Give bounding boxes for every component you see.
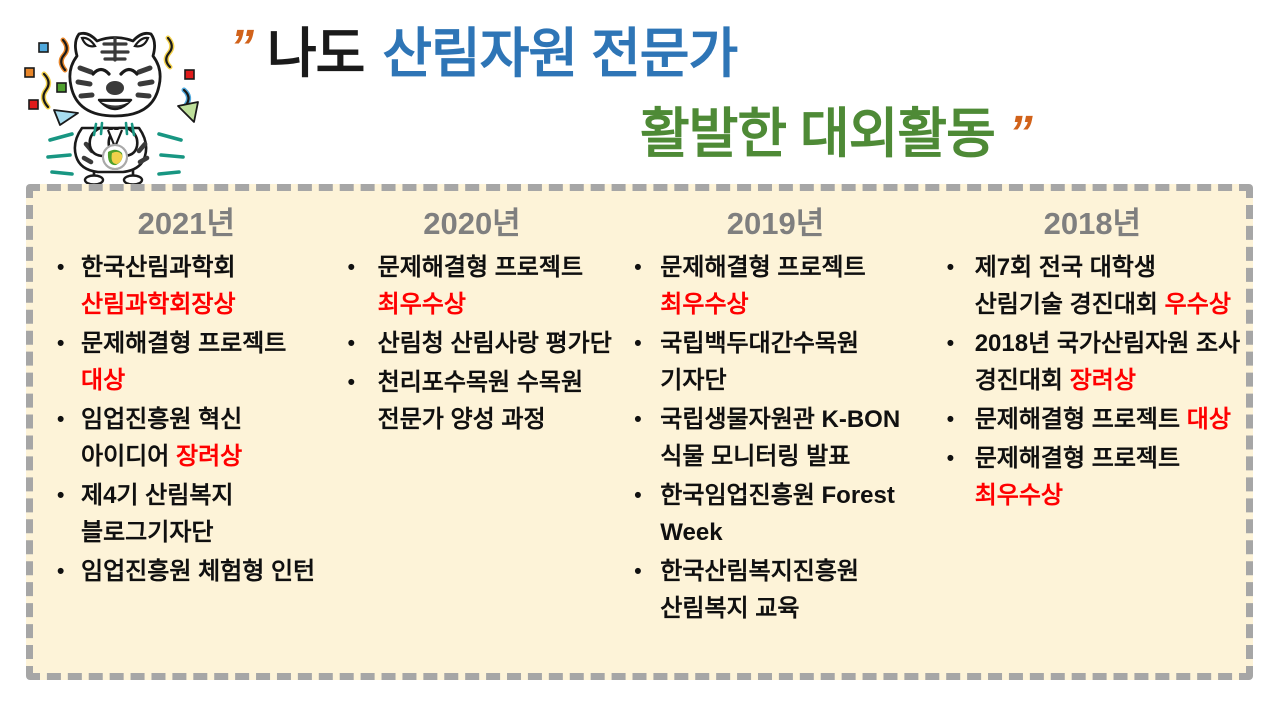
title-line1-black-text: 나도 [267, 24, 364, 84]
list-item: 천리포수목원 수목원 전문가 양성 과정 [338, 364, 615, 438]
list-item: 문제해결형 프로젝트 대상 [937, 401, 1242, 438]
year-column-2019: 2019년 문제해결형 프로젝트 최우수상 국립백두대간수목원 기자단 국립생물… [618, 191, 926, 629]
item-text: 한국임업진흥원 Forest Week [660, 482, 895, 546]
year-heading-2018: 2018년 [943, 205, 1242, 243]
item-text: 제7회 전국 대학생 산림기술 경진대회 [975, 254, 1165, 318]
achievement-list-2019: 문제해결형 프로젝트 최우수상 국립백두대간수목원 기자단 국립생물자원관 K-… [624, 249, 922, 627]
item-text: 국립백두대간수목원 기자단 [660, 330, 859, 394]
item-text: 문제해결형 프로젝트 [378, 254, 583, 281]
achievement-list-2018: 제7회 전국 대학생 산림기술 경진대회 우수상 2018년 국가산림자원 조사… [937, 249, 1242, 514]
list-item: 산림청 산림사랑 평가단 [338, 325, 615, 362]
list-item: 한국임업진흥원 Forest Week [624, 477, 922, 551]
open-quote-icon: ” [230, 18, 253, 78]
award-label: 최우수상 [378, 291, 466, 318]
item-text: 국립생물자원관 K-BON 식물 모니터링 발표 [660, 406, 900, 470]
item-text: 천리포수목원 수목원 전문가 양성 과정 [378, 369, 583, 433]
item-text: 문제해결형 프로젝트 [660, 254, 865, 281]
close-quote-icon: ” [1009, 104, 1032, 164]
year-heading-2019: 2019년 [628, 205, 922, 243]
list-item: 임업진흥원 체험형 인턴 [47, 553, 326, 590]
item-text: 제4기 산림복지 블로그기자단 [81, 482, 234, 546]
list-item: 문제해결형 프로젝트 최우수상 [338, 249, 615, 323]
item-text: 문제해결형 프로젝트 [81, 330, 286, 357]
award-label: 우수상 [1165, 291, 1231, 318]
list-item: 문제해결형 프로젝트 최우수상 [937, 440, 1242, 514]
list-item: 2018년 국가산림자원 조사 경진대회 장려상 [937, 325, 1242, 399]
award-label: 최우수상 [975, 482, 1063, 509]
achievement-list-2021: 한국산림과학회 산림과학회장상 문제해결형 프로젝트 대상 임업진흥원 혁신 아… [47, 249, 326, 590]
year-heading-2021: 2021년 [47, 205, 326, 243]
item-text: 한국산림복지진흥원 산림복지 교육 [660, 558, 859, 622]
achievement-list-2020: 문제해결형 프로젝트 최우수상 산림청 산림사랑 평가단 천리포수목원 수목원 … [338, 249, 615, 438]
item-text: 임업진흥원 체험형 인턴 [81, 558, 315, 585]
item-text: 산림청 산림사랑 평가단 [378, 330, 612, 357]
list-item: 제7회 전국 대학생 산림기술 경진대회 우수상 [937, 249, 1242, 323]
year-heading-2020: 2020년 [330, 205, 615, 243]
year-column-2021: 2021년 한국산림과학회 산림과학회장상 문제해결형 프로젝트 대상 임업진흥… [33, 191, 330, 592]
title-line1-blue-text: 산림자원 전문가 [382, 24, 737, 84]
clapping-tiger-mascot-icon [8, 12, 223, 184]
year-column-2018: 2018년 제7회 전국 대학생 산림기술 경진대회 우수상 2018년 국가산… [927, 191, 1246, 516]
item-text: 문제해결형 프로젝트 [975, 406, 1187, 433]
year-column-2020: 2020년 문제해결형 프로젝트 최우수상 산림청 산림사랑 평가단 천리포수목… [330, 191, 619, 440]
slide-title: ”나도산림자원 전문가 활발한 대외활동” [222, 8, 1272, 184]
award-label: 대상 [1187, 406, 1231, 433]
list-item: 문제해결형 프로젝트 최우수상 [624, 249, 922, 323]
award-label: 장려상 [176, 443, 242, 470]
list-item: 임업진흥원 혁신 아이디어 장려상 [47, 401, 326, 475]
award-label: 최우수상 [660, 291, 748, 318]
year-columns-container: 2021년 한국산림과학회 산림과학회장상 문제해결형 프로젝트 대상 임업진흥… [33, 191, 1246, 673]
item-text: 문제해결형 프로젝트 [975, 445, 1180, 472]
item-text: 한국산림과학회 [81, 254, 236, 281]
achievements-panel: 2021년 한국산림과학회 산림과학회장상 문제해결형 프로젝트 대상 임업진흥… [26, 184, 1253, 680]
award-label: 대상 [81, 367, 125, 394]
list-item: 한국산림복지진흥원 산림복지 교육 [624, 553, 922, 627]
list-item: 국립백두대간수목원 기자단 [624, 325, 922, 399]
award-label: 장려상 [1070, 367, 1136, 394]
list-item: 국립생물자원관 K-BON 식물 모니터링 발표 [624, 401, 922, 475]
list-item: 한국산림과학회 산림과학회장상 [47, 249, 326, 323]
title-line2-green-text: 활발한 대외활동 [640, 104, 995, 164]
title-line-2: 활발한 대외활동” [640, 104, 1032, 164]
award-label: 산림과학회장상 [81, 291, 236, 318]
list-item: 문제해결형 프로젝트 대상 [47, 325, 326, 399]
list-item: 제4기 산림복지 블로그기자단 [47, 477, 326, 551]
title-line-1: ”나도산림자원 전문가 [230, 24, 737, 84]
slide-header: ”나도산림자원 전문가 활발한 대외활동” [0, 0, 1280, 184]
